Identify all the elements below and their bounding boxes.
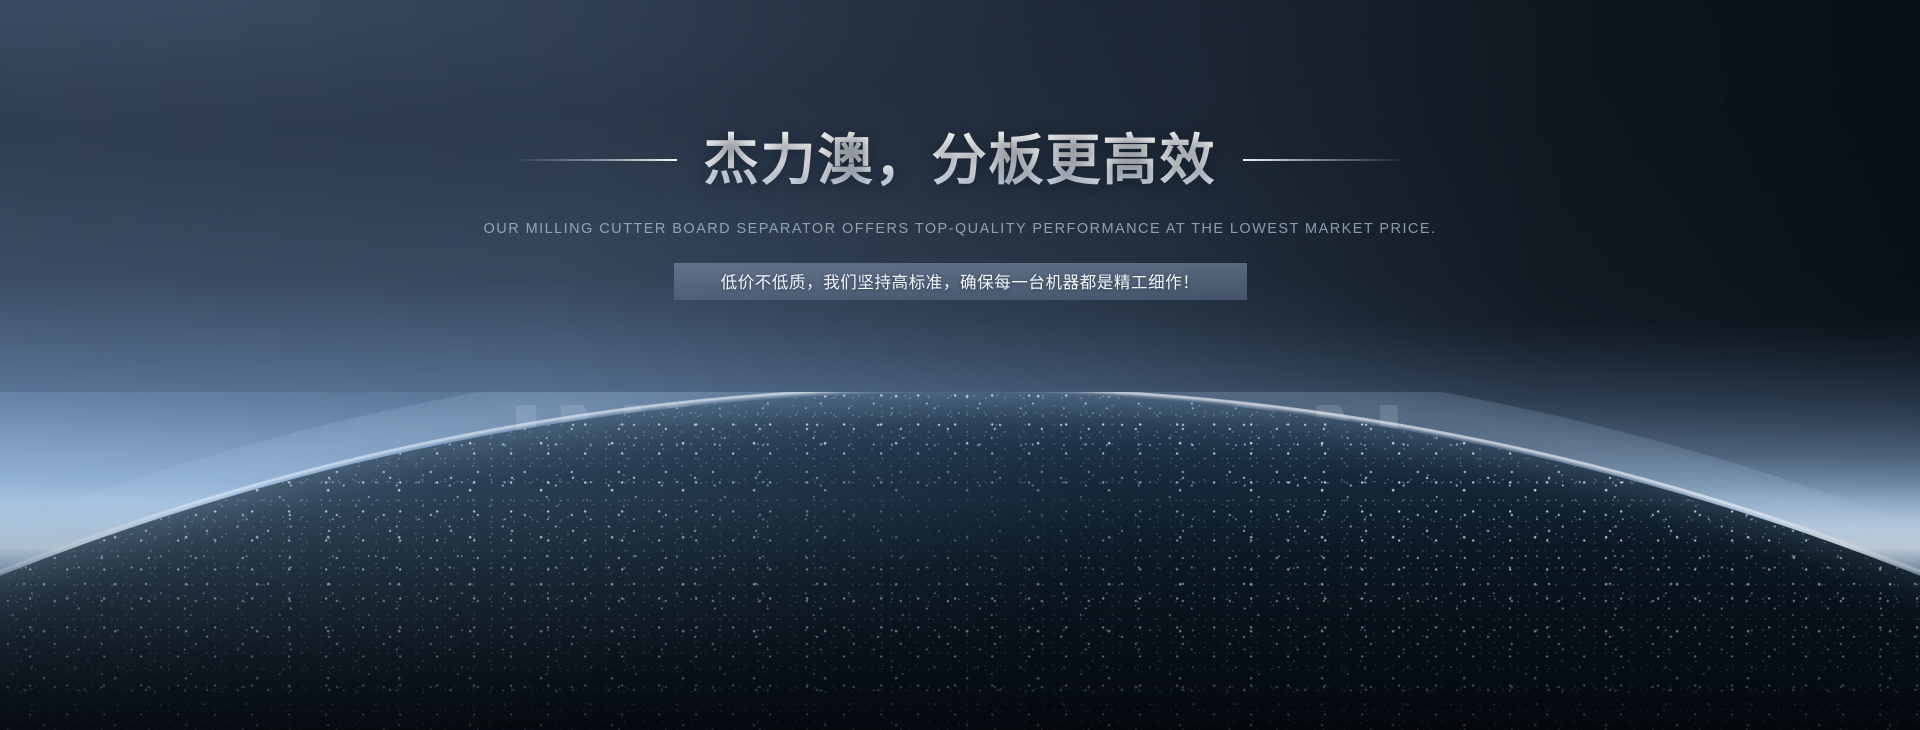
innovation-watermark: INNOVATION bbox=[0, 384, 1920, 522]
page-title: 杰力澳，分板更高效 bbox=[703, 130, 1216, 191]
decorative-rule-left bbox=[517, 159, 677, 161]
hero-subtitle: OUR MILLING CUTTER BOARD SEPARATOR OFFER… bbox=[0, 221, 1920, 237]
tagline-banner: 低价不低质，我们坚持高标准，确保每一台机器都是精工细作！ bbox=[674, 263, 1247, 300]
tagline-text: 低价不低质，我们坚持高标准，确保每一台机器都是精工细作！ bbox=[721, 269, 1200, 293]
headline-row: 杰力澳，分板更高效 bbox=[0, 130, 1920, 191]
decorative-rule-right bbox=[1243, 159, 1403, 161]
hero-banner: INNOVATION 杰力澳，分板更高效 OUR MILLING CUTTER … bbox=[0, 0, 1920, 730]
hero-content: 杰力澳，分板更高效 OUR MILLING CUTTER BOARD SEPAR… bbox=[0, 0, 1920, 300]
